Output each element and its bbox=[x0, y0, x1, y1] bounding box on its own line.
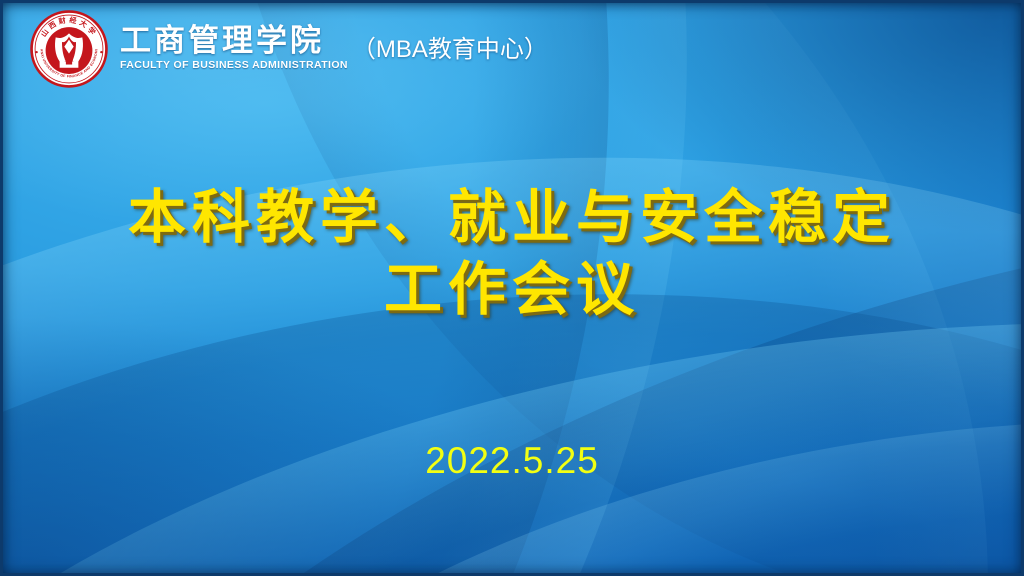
faculty-name-en: FACULTY OF BUSINESS ADMINISTRATION bbox=[120, 59, 348, 71]
date-text: 2022.5.25 bbox=[0, 440, 1024, 482]
organization-name-block: 工商管理学院 FACULTY OF BUSINESS ADMINISTRATIO… bbox=[120, 25, 348, 71]
slide-title: 本科教学、就业与安全稳定 工作会议 bbox=[0, 182, 1024, 326]
title-slide: 山西财经大学 SHANXI UNIVERSITY OF FINANCE AND … bbox=[0, 0, 1024, 576]
mba-center-label: （MBA教育中心） bbox=[352, 29, 548, 64]
university-seal-logo: 山西财经大学 SHANXI UNIVERSITY OF FINANCE AND … bbox=[30, 10, 108, 88]
svg-text:1951: 1951 bbox=[64, 57, 74, 62]
slide-date: 2022.5.25 bbox=[0, 440, 1024, 482]
faculty-name-cn: 工商管理学院 bbox=[120, 25, 348, 57]
slide-header: 山西财经大学 SHANXI UNIVERSITY OF FINANCE AND … bbox=[0, 0, 1024, 96]
title-line-1: 本科教学、就业与安全稳定 bbox=[0, 182, 1024, 254]
title-line-2: 工作会议 bbox=[0, 254, 1024, 326]
